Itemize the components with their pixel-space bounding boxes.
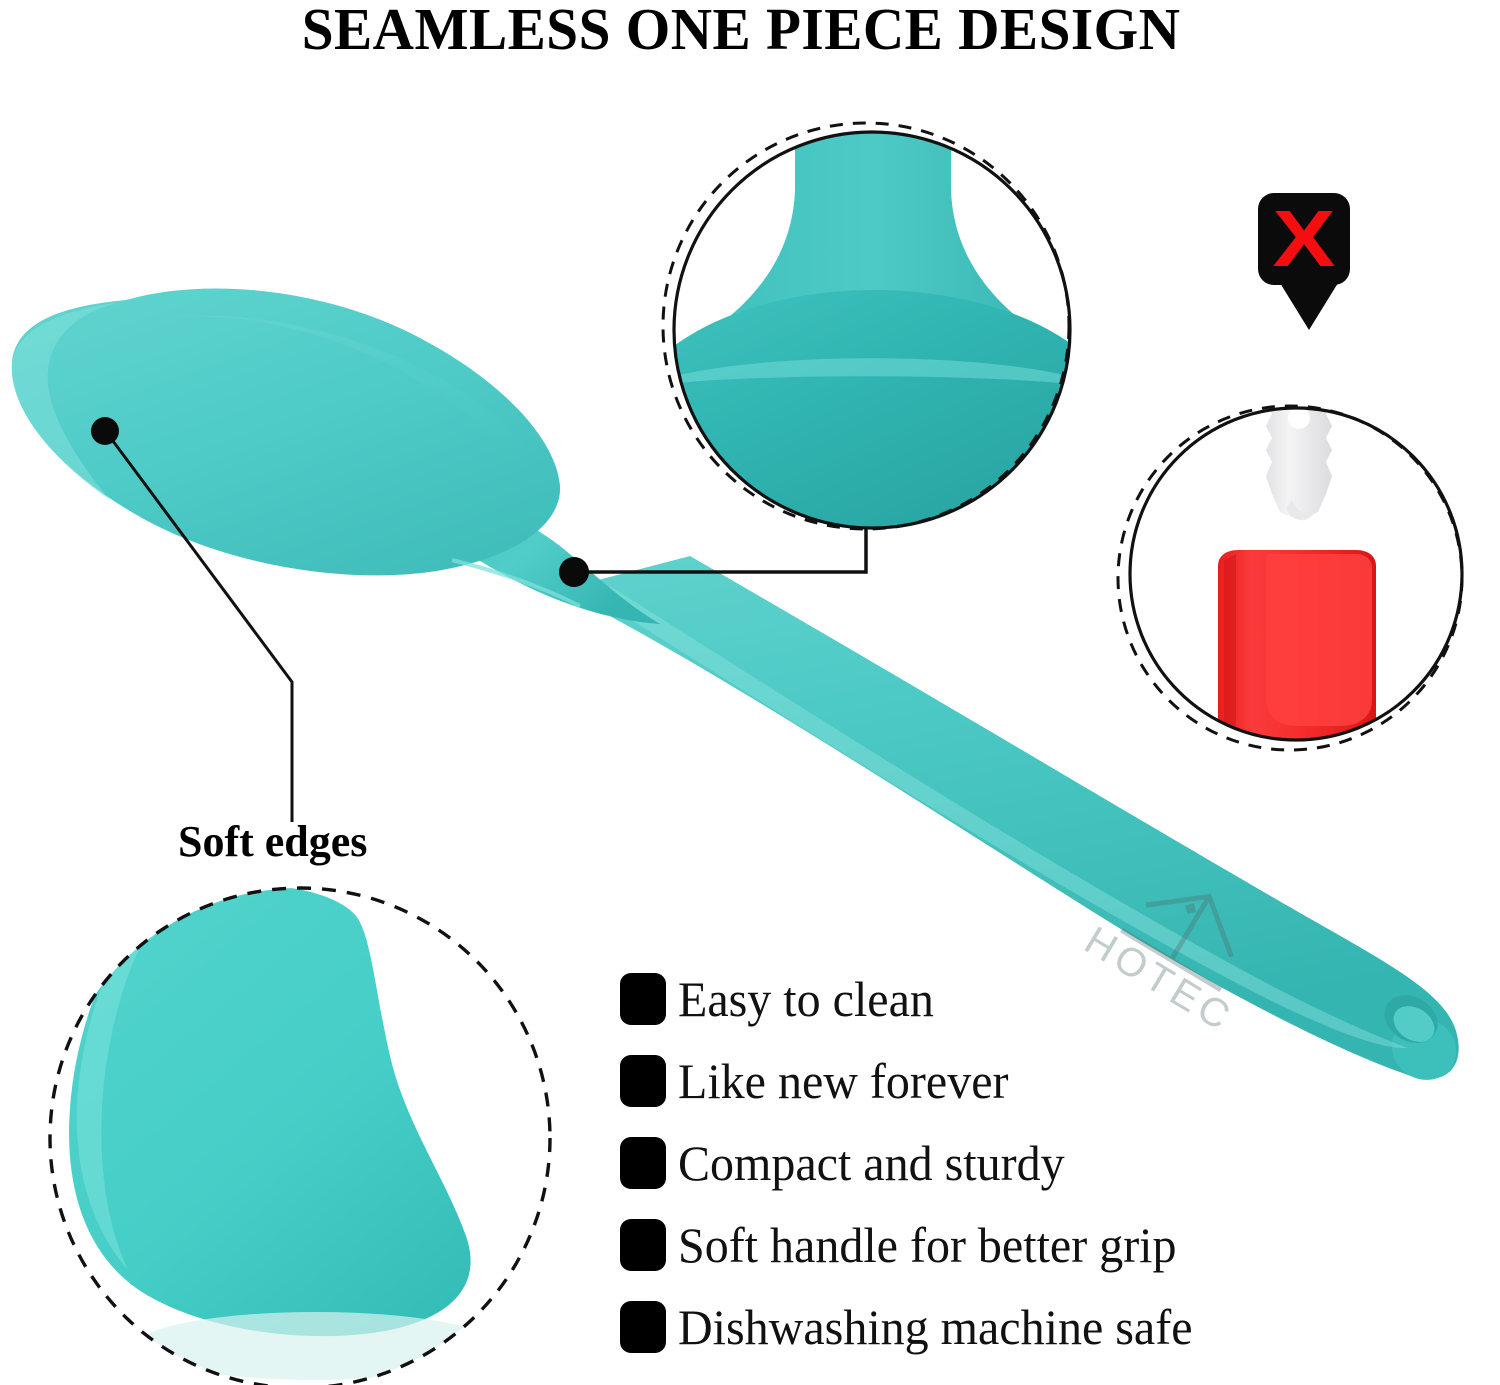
feature-label: Like new forever: [678, 1054, 1008, 1108]
feature-item-4: Dishwashing machine safe: [620, 1286, 1380, 1368]
bullet-square-icon: [620, 973, 666, 1025]
soft-edge-zoom-shadow: [136, 1312, 496, 1380]
x-glyph: X: [1250, 193, 1359, 285]
two-piece-white-head: [1266, 383, 1332, 520]
feature-label: Soft handle for better grip: [678, 1218, 1177, 1272]
feature-label: Compact and sturdy: [678, 1136, 1065, 1190]
warning-pointer-triangle-icon: [1280, 283, 1338, 330]
inset-two-piece-design: [1118, 383, 1470, 750]
feature-item-0: Easy to clean: [620, 958, 1380, 1040]
bullet-square-icon: [620, 1137, 666, 1189]
bullet-square-icon: [620, 1301, 666, 1353]
feature-label: Dishwashing machine safe: [678, 1300, 1193, 1354]
two-piece-red-handle: [1218, 550, 1376, 740]
feature-item-1: Like new forever: [620, 1040, 1380, 1122]
neck-anchor-dot: [559, 557, 589, 587]
feature-item-2: Compact and sturdy: [620, 1122, 1380, 1204]
bullet-square-icon: [620, 1055, 666, 1107]
inset-seamless-neck: [624, 100, 1124, 570]
soft-edges-label: Soft edges: [178, 818, 367, 866]
red-x-warning-icon: X: [1258, 193, 1350, 285]
inset-soft-edge: [48, 885, 552, 1385]
feature-list: Easy to clean Like new forever Compact a…: [620, 958, 1380, 1368]
feature-item-3: Soft handle for better grip: [620, 1204, 1380, 1286]
soft-edges-anchor-dot: [91, 417, 119, 445]
bullet-square-icon: [620, 1219, 666, 1271]
feature-label: Easy to clean: [678, 972, 934, 1026]
infographic-canvas: SEAMLESS ONE PIECE DESIGN: [0, 0, 1500, 1385]
